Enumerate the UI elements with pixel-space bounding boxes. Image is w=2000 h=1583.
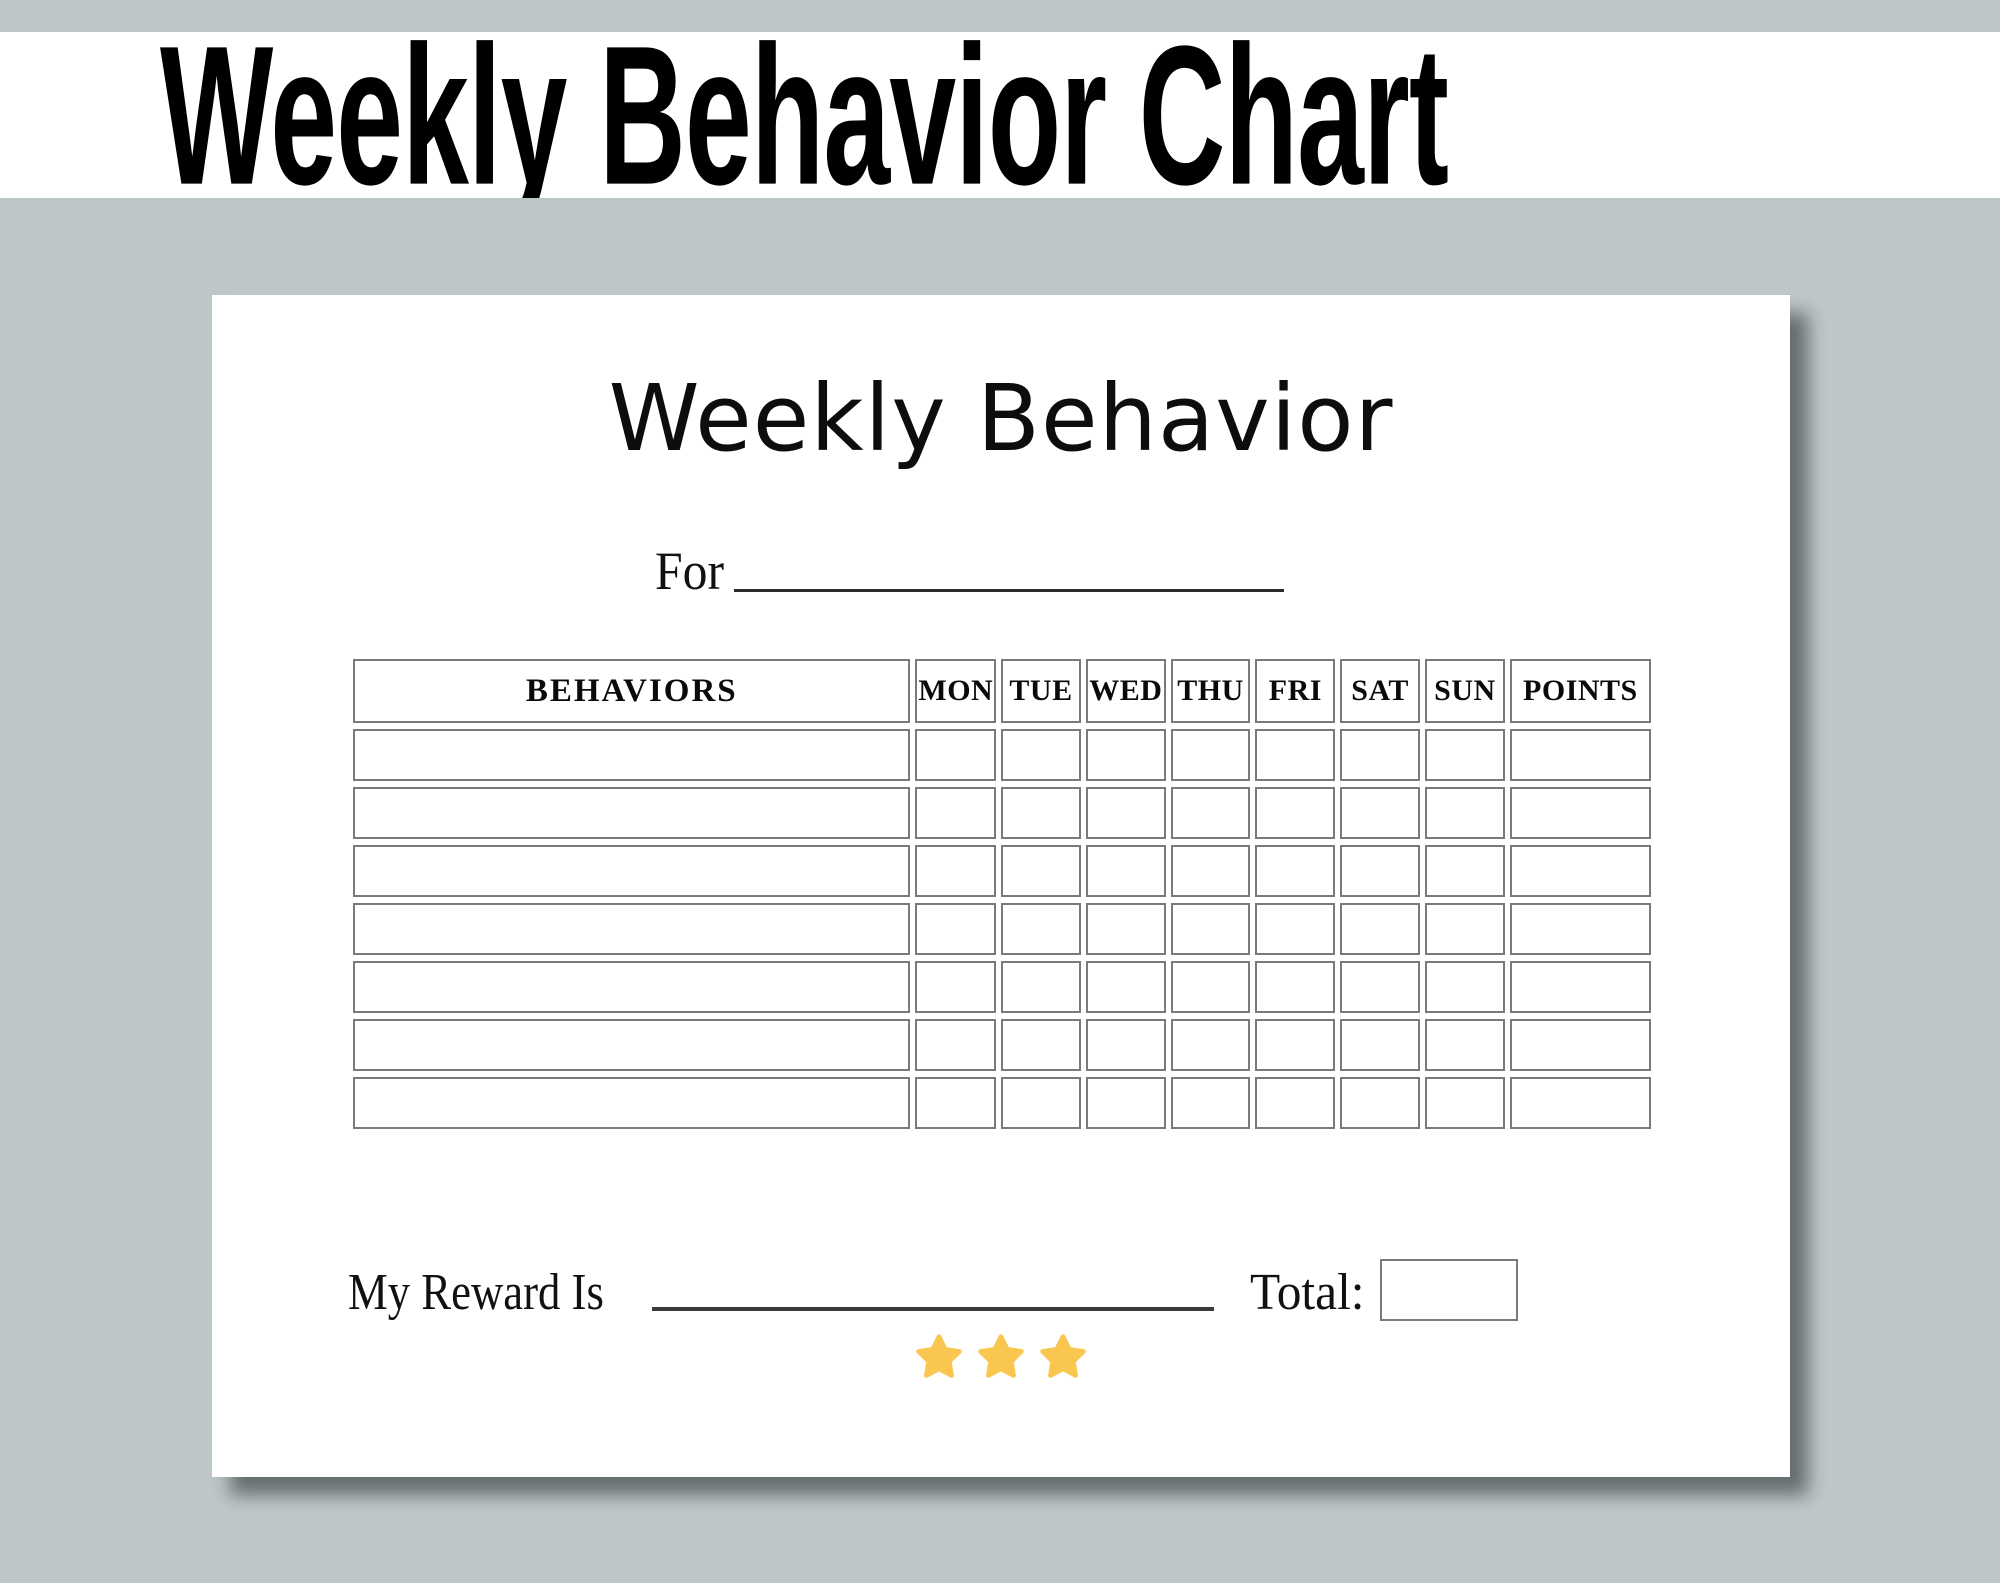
cell-mon[interactable] (915, 1077, 996, 1129)
cell-behavior[interactable] (353, 729, 910, 781)
cell-tue[interactable] (1001, 903, 1081, 955)
cell-tue[interactable] (1001, 845, 1081, 897)
total-value-box[interactable] (1380, 1259, 1518, 1321)
table-row (353, 787, 1651, 839)
column-header-mon: MON (915, 659, 996, 723)
table-row (353, 1019, 1651, 1071)
behavior-chart-card: Weekly Behavior For BEHAVIORS MON TUE WE… (212, 295, 1790, 1477)
star-icon (913, 1331, 965, 1383)
table-row (353, 729, 1651, 781)
cell-mon[interactable] (915, 845, 996, 897)
star-decoration (212, 1331, 1790, 1383)
cell-points[interactable] (1510, 961, 1651, 1013)
column-header-thu: THU (1171, 659, 1251, 723)
cell-fri[interactable] (1255, 1019, 1335, 1071)
reward-label: My Reward Is (348, 1267, 604, 1319)
cell-sat[interactable] (1340, 961, 1420, 1013)
cell-sun[interactable] (1425, 961, 1505, 1013)
table-row (353, 845, 1651, 897)
for-name-input[interactable] (734, 589, 1284, 592)
cell-behavior[interactable] (353, 1019, 910, 1071)
table-row (353, 961, 1651, 1013)
cell-sun[interactable] (1425, 903, 1505, 955)
cell-wed[interactable] (1086, 845, 1166, 897)
cell-mon[interactable] (915, 903, 996, 955)
cell-thu[interactable] (1171, 903, 1251, 955)
cell-thu[interactable] (1171, 1019, 1251, 1071)
cell-wed[interactable] (1086, 729, 1166, 781)
cell-wed[interactable] (1086, 1019, 1166, 1071)
cell-mon[interactable] (915, 961, 996, 1013)
cell-points[interactable] (1510, 787, 1651, 839)
column-header-sat: SAT (1340, 659, 1420, 723)
cell-thu[interactable] (1171, 961, 1251, 1013)
reward-total-row: My Reward Is Total: (348, 1259, 1656, 1319)
cell-fri[interactable] (1255, 729, 1335, 781)
cell-thu[interactable] (1171, 1077, 1251, 1129)
sheet-heading: Weekly Behavior (212, 373, 1790, 465)
star-icon (975, 1331, 1027, 1383)
cell-wed[interactable] (1086, 787, 1166, 839)
cell-fri[interactable] (1255, 787, 1335, 839)
cell-mon[interactable] (915, 1019, 996, 1071)
title-banner: Weekly Behavior Chart (0, 32, 2000, 198)
cell-fri[interactable] (1255, 1077, 1335, 1129)
cell-fri[interactable] (1255, 845, 1335, 897)
cell-points[interactable] (1510, 729, 1651, 781)
cell-behavior[interactable] (353, 903, 910, 955)
cell-behavior[interactable] (353, 845, 910, 897)
cell-behavior[interactable] (353, 1077, 910, 1129)
cell-thu[interactable] (1171, 845, 1251, 897)
column-header-sun: SUN (1425, 659, 1505, 723)
for-name-row: For (655, 544, 1284, 598)
cell-sat[interactable] (1340, 729, 1420, 781)
column-header-tue: TUE (1001, 659, 1081, 723)
cell-fri[interactable] (1255, 961, 1335, 1013)
reward-input[interactable] (652, 1307, 1214, 1311)
behavior-table-body: BEHAVIORS MON TUE WED THU FRI SAT SUN PO… (353, 659, 1651, 1129)
table-header-row: BEHAVIORS MON TUE WED THU FRI SAT SUN PO… (353, 659, 1651, 723)
cell-tue[interactable] (1001, 1019, 1081, 1071)
table-row (353, 1077, 1651, 1129)
cell-behavior[interactable] (353, 787, 910, 839)
cell-points[interactable] (1510, 845, 1651, 897)
column-header-fri: FRI (1255, 659, 1335, 723)
total-label: Total: (1250, 1267, 1365, 1319)
cell-sat[interactable] (1340, 845, 1420, 897)
cell-behavior[interactable] (353, 961, 910, 1013)
cell-points[interactable] (1510, 1077, 1651, 1129)
cell-wed[interactable] (1086, 903, 1166, 955)
cell-sun[interactable] (1425, 787, 1505, 839)
column-header-points: POINTS (1510, 659, 1651, 723)
cell-sun[interactable] (1425, 1019, 1505, 1071)
column-header-behaviors: BEHAVIORS (353, 659, 910, 723)
behavior-table: BEHAVIORS MON TUE WED THU FRI SAT SUN PO… (348, 653, 1656, 1135)
cell-sat[interactable] (1340, 1019, 1420, 1071)
for-label: For (655, 544, 724, 598)
cell-thu[interactable] (1171, 787, 1251, 839)
cell-mon[interactable] (915, 729, 996, 781)
cell-tue[interactable] (1001, 787, 1081, 839)
cell-fri[interactable] (1255, 903, 1335, 955)
cell-thu[interactable] (1171, 729, 1251, 781)
cell-sun[interactable] (1425, 729, 1505, 781)
cell-tue[interactable] (1001, 961, 1081, 1013)
cell-points[interactable] (1510, 1019, 1651, 1071)
cell-sat[interactable] (1340, 1077, 1420, 1129)
cell-mon[interactable] (915, 787, 996, 839)
cell-sat[interactable] (1340, 787, 1420, 839)
star-icon (1037, 1331, 1089, 1383)
cell-sat[interactable] (1340, 903, 1420, 955)
cell-wed[interactable] (1086, 961, 1166, 1013)
page-title: Weekly Behavior Chart (160, 32, 1448, 198)
cell-sun[interactable] (1425, 845, 1505, 897)
cell-wed[interactable] (1086, 1077, 1166, 1129)
cell-tue[interactable] (1001, 729, 1081, 781)
cell-sun[interactable] (1425, 1077, 1505, 1129)
cell-tue[interactable] (1001, 1077, 1081, 1129)
table-row (353, 903, 1651, 955)
column-header-wed: WED (1086, 659, 1166, 723)
cell-points[interactable] (1510, 903, 1651, 955)
